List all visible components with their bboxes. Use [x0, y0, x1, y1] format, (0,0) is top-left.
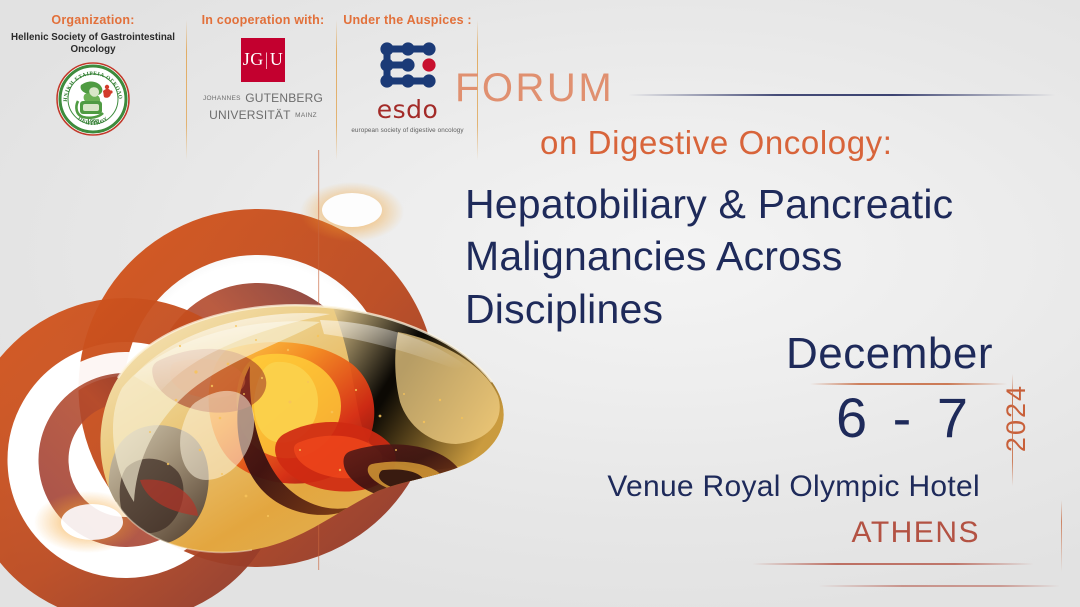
svg-text:· 1998 ·: · 1998 · — [83, 119, 102, 125]
jgu-mark-left: JG — [243, 49, 264, 70]
jgu-name-mainz: MAINZ — [295, 112, 317, 119]
forum-heading-row: FORUM — [455, 66, 1055, 111]
title-line-2: Malignancies Across Disciplines — [465, 230, 1045, 335]
jgu-logo-icon: JG | U — [241, 38, 285, 82]
jgu-university-name: JOHANNES GUTENBERG UNIVERSITÄT MAINZ — [190, 89, 336, 124]
date-rule — [810, 383, 1007, 385]
esdo-tagline: european society of digestive oncology — [340, 127, 475, 134]
esdo-accent-dot — [422, 58, 435, 71]
logo-strip: Organization: Hellenic Society of Gastro… — [0, 0, 480, 160]
event-year: 2024 — [1001, 384, 1032, 452]
forum-subtitle: on Digestive Oncology: — [540, 124, 893, 162]
venue-rule-1 — [752, 563, 1034, 565]
venue-rule-2 — [818, 585, 1060, 587]
logo-divider-1 — [186, 20, 187, 160]
page-title: Hepatobiliary & Pancreatic Malignancies … — [465, 178, 1045, 335]
conference-poster: Organization: Hellenic Society of Gastro… — [0, 0, 1080, 607]
liver-shape — [100, 300, 508, 552]
jgu-mark-right: U — [270, 49, 284, 70]
jgu-name-universitaet: UNIVERSITÄT — [209, 108, 291, 122]
jgu-mark-divider: | — [265, 49, 269, 70]
logo-divider-2 — [336, 20, 337, 160]
forum-rule — [628, 94, 1055, 96]
event-date-block: December 6 - 7 2024 — [700, 332, 1045, 447]
cooperation-caption: In cooperation with: — [190, 14, 336, 28]
right-accent-rule — [1061, 500, 1063, 572]
year-rule — [1012, 374, 1014, 486]
organization-name: Hellenic Society of Gastrointestinal Onc… — [7, 31, 180, 55]
jgu-name-johannes: JOHANNES — [203, 95, 241, 102]
jgu-name-gutenberg: GUTENBERG — [245, 91, 323, 105]
hellenic-society-seal-icon: ΕΛΛΗΝΙΚΗ ΕΤΑΙΡΕΙΑ ΟΓΚΟΛΟΓΙΑΣ ΠΕΠΤΙΚΟΥ · … — [55, 61, 131, 137]
venue-name: Venue Royal Olympic Hotel — [520, 470, 980, 504]
title-line-1: Hepatobiliary & Pancreatic — [465, 181, 953, 227]
organization-logo-block: Organization: Hellenic Society of Gastro… — [0, 0, 186, 137]
auspices-caption: Under the Auspices : — [340, 14, 475, 28]
venue-city: ATHENS — [620, 516, 980, 550]
liver-artwork — [0, 150, 540, 607]
event-days: 6 - 7 — [700, 389, 1045, 448]
cooperation-logo-block: In cooperation with: JG | U JOHANNES GUT… — [190, 0, 336, 123]
organization-caption: Organization: — [0, 14, 186, 28]
event-month: December — [700, 332, 1045, 376]
forum-label: FORUM — [455, 66, 614, 111]
esdo-dot-grid-icon — [377, 40, 439, 90]
